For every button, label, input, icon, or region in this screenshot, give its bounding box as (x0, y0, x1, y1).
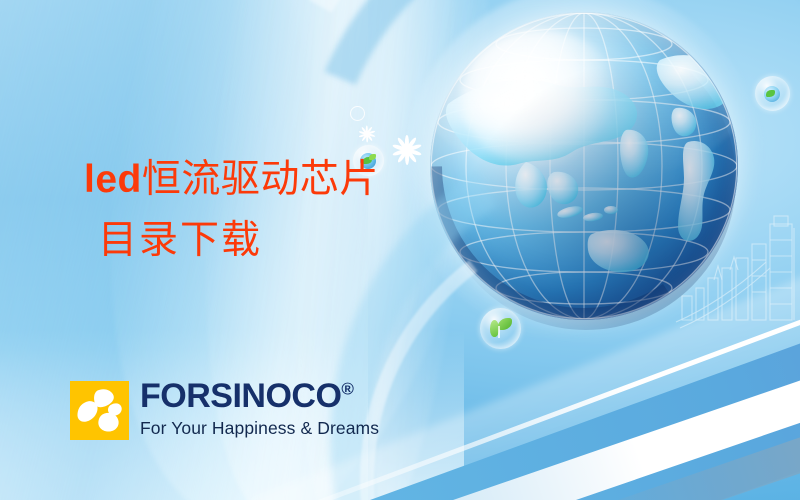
leaf-stem (498, 326, 500, 338)
forsinoco-logo[interactable]: FORSINOCO® For Your Happiness & Dreams (70, 381, 379, 440)
headline-latin: led (84, 158, 142, 201)
forsinoco-flower-mark (70, 381, 129, 440)
logo-tagline: For Your Happiness & Dreams (140, 420, 379, 438)
flower-petals-icon (70, 381, 129, 440)
small-ring-outline (350, 106, 365, 121)
green-leaf-icon-2 (498, 318, 512, 330)
headline-line-1: led恒流驱动芯片 (84, 160, 504, 199)
headline-line-2: 目录下载 (98, 221, 504, 260)
headline-cjk: 恒流驱动芯片 (142, 157, 379, 202)
bubble-corner-icon (755, 76, 790, 111)
flower-spark-2 (358, 125, 375, 142)
logo-wordmark-text: FORSINOCO (140, 377, 341, 415)
bubble-leaf-icon (480, 308, 521, 349)
banner-canvas: led恒流驱动芯片 目录下载 FORSINOCO® For Your Happi… (0, 0, 800, 500)
logo-wordmark: FORSINOCO® (140, 379, 379, 413)
logo-text-block: FORSINOCO® For Your Happiness & Dreams (140, 379, 379, 438)
registered-symbol: ® (341, 380, 354, 399)
headline-block: led恒流驱动芯片 目录下载 (84, 160, 504, 260)
